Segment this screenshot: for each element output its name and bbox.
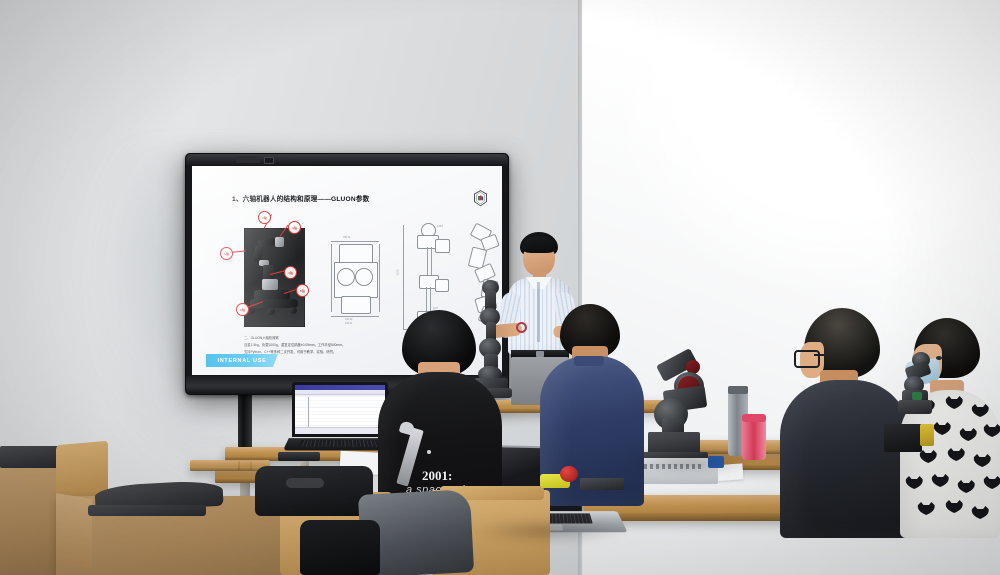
callout-2: 2轴 xyxy=(258,211,271,224)
remote-control[interactable] xyxy=(278,452,320,461)
student-navy-collar xyxy=(574,356,604,366)
internal-use-badge: INTERNAL USE xyxy=(206,354,278,367)
monitor-stand-base xyxy=(88,505,206,516)
callout-6: 6轴 xyxy=(236,303,249,316)
camera-icon xyxy=(264,157,274,164)
display-top-bezel xyxy=(186,154,508,165)
classroom-scene: 1、六轴机器人的结构和原理——GLUON参数 xyxy=(0,0,1000,575)
backpack-under-chair xyxy=(300,520,380,575)
person-student-glasses xyxy=(780,308,910,538)
display-camera-bar xyxy=(236,156,260,163)
slide-title-suffix: 参数 xyxy=(356,196,370,203)
slide-title-en: GLUON xyxy=(331,196,356,203)
laptop-left-screen[interactable] xyxy=(292,382,388,437)
callout-3: 3轴 xyxy=(288,221,301,234)
robot-green-part xyxy=(912,392,922,400)
shadow xyxy=(470,520,630,542)
slide-title: 1、六轴机器人的结构和原理——GLUON参数 xyxy=(232,193,369,203)
backpack-left xyxy=(255,466,373,516)
student-glasses-shirt xyxy=(780,380,910,538)
presenter-hair-front xyxy=(521,236,557,253)
thermos-cap xyxy=(728,386,748,394)
shield-hex-logo xyxy=(473,190,488,207)
red-button-object xyxy=(560,466,578,482)
robot-arm-far-right xyxy=(900,352,946,418)
callout-5: 5轴 xyxy=(296,284,309,297)
shadow xyxy=(620,450,760,474)
dark-device xyxy=(580,478,624,490)
battery-pack xyxy=(884,424,922,452)
shirt-text-title: 2001: xyxy=(422,468,452,484)
callout-1: 1轴 xyxy=(220,247,233,260)
shirt-graphic-dot xyxy=(427,450,431,454)
battery-yellow xyxy=(920,424,934,446)
pink-bottle-cap xyxy=(742,414,766,422)
callout-4: 4轴 xyxy=(284,266,297,279)
slide-title-cn: 六轴机器人的结构和原理—— xyxy=(243,196,331,203)
slide-title-number: 1、 xyxy=(232,196,243,203)
glasses-temple xyxy=(814,354,824,356)
backpack-handle xyxy=(286,478,324,488)
ceiling-light-glow xyxy=(600,0,1000,300)
glasses-icon xyxy=(794,350,820,368)
